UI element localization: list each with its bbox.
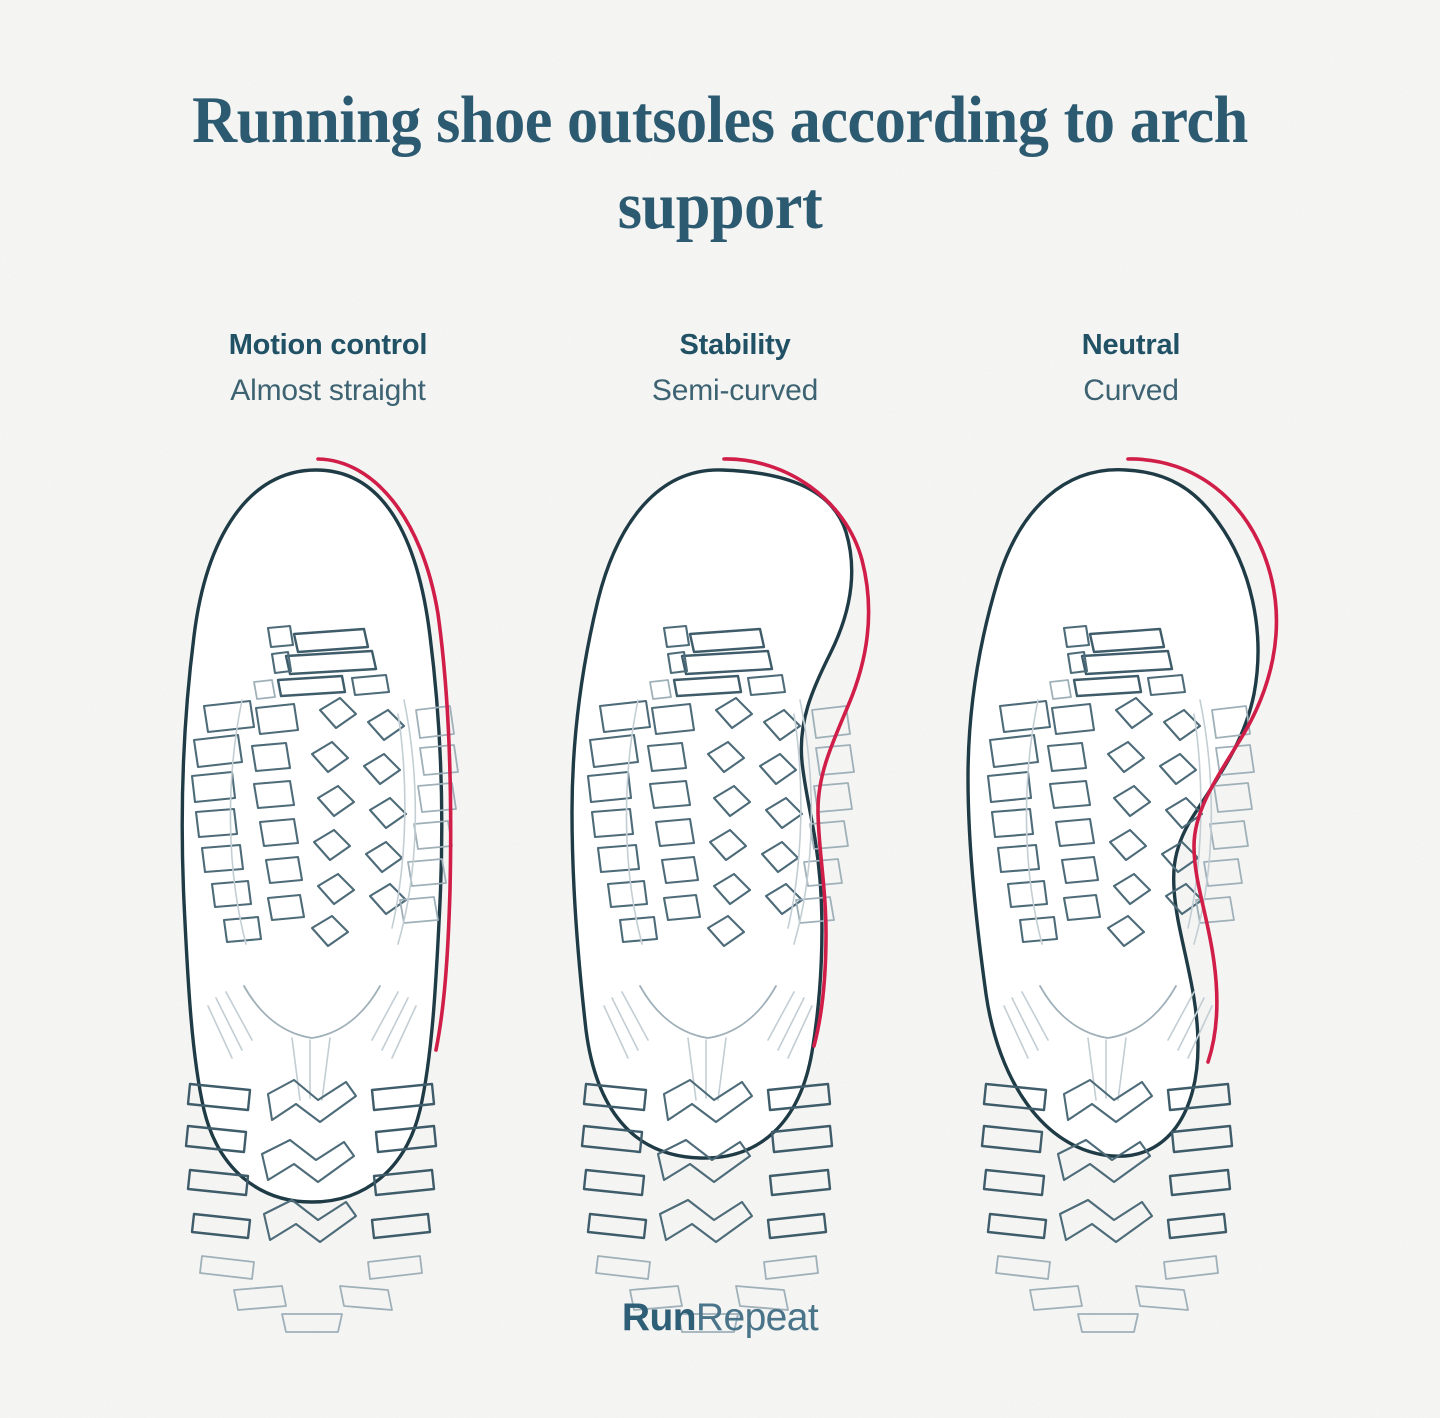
outsole-illustrations xyxy=(0,0,1440,1418)
outsole-neutral xyxy=(968,459,1276,1332)
logo-repeat-text: Repeat xyxy=(696,1296,818,1339)
runrepeat-logo[interactable]: RunRepeat xyxy=(0,1296,1440,1340)
outsole-outline-stability xyxy=(572,470,852,1158)
outsole-stability xyxy=(572,459,869,1332)
outsole-outline-neutral xyxy=(968,470,1258,1156)
outsole-motion-control xyxy=(182,459,458,1332)
infographic-canvas: Running shoe outsoles according to arch … xyxy=(0,0,1440,1418)
logo-run-text: Run xyxy=(622,1296,696,1339)
